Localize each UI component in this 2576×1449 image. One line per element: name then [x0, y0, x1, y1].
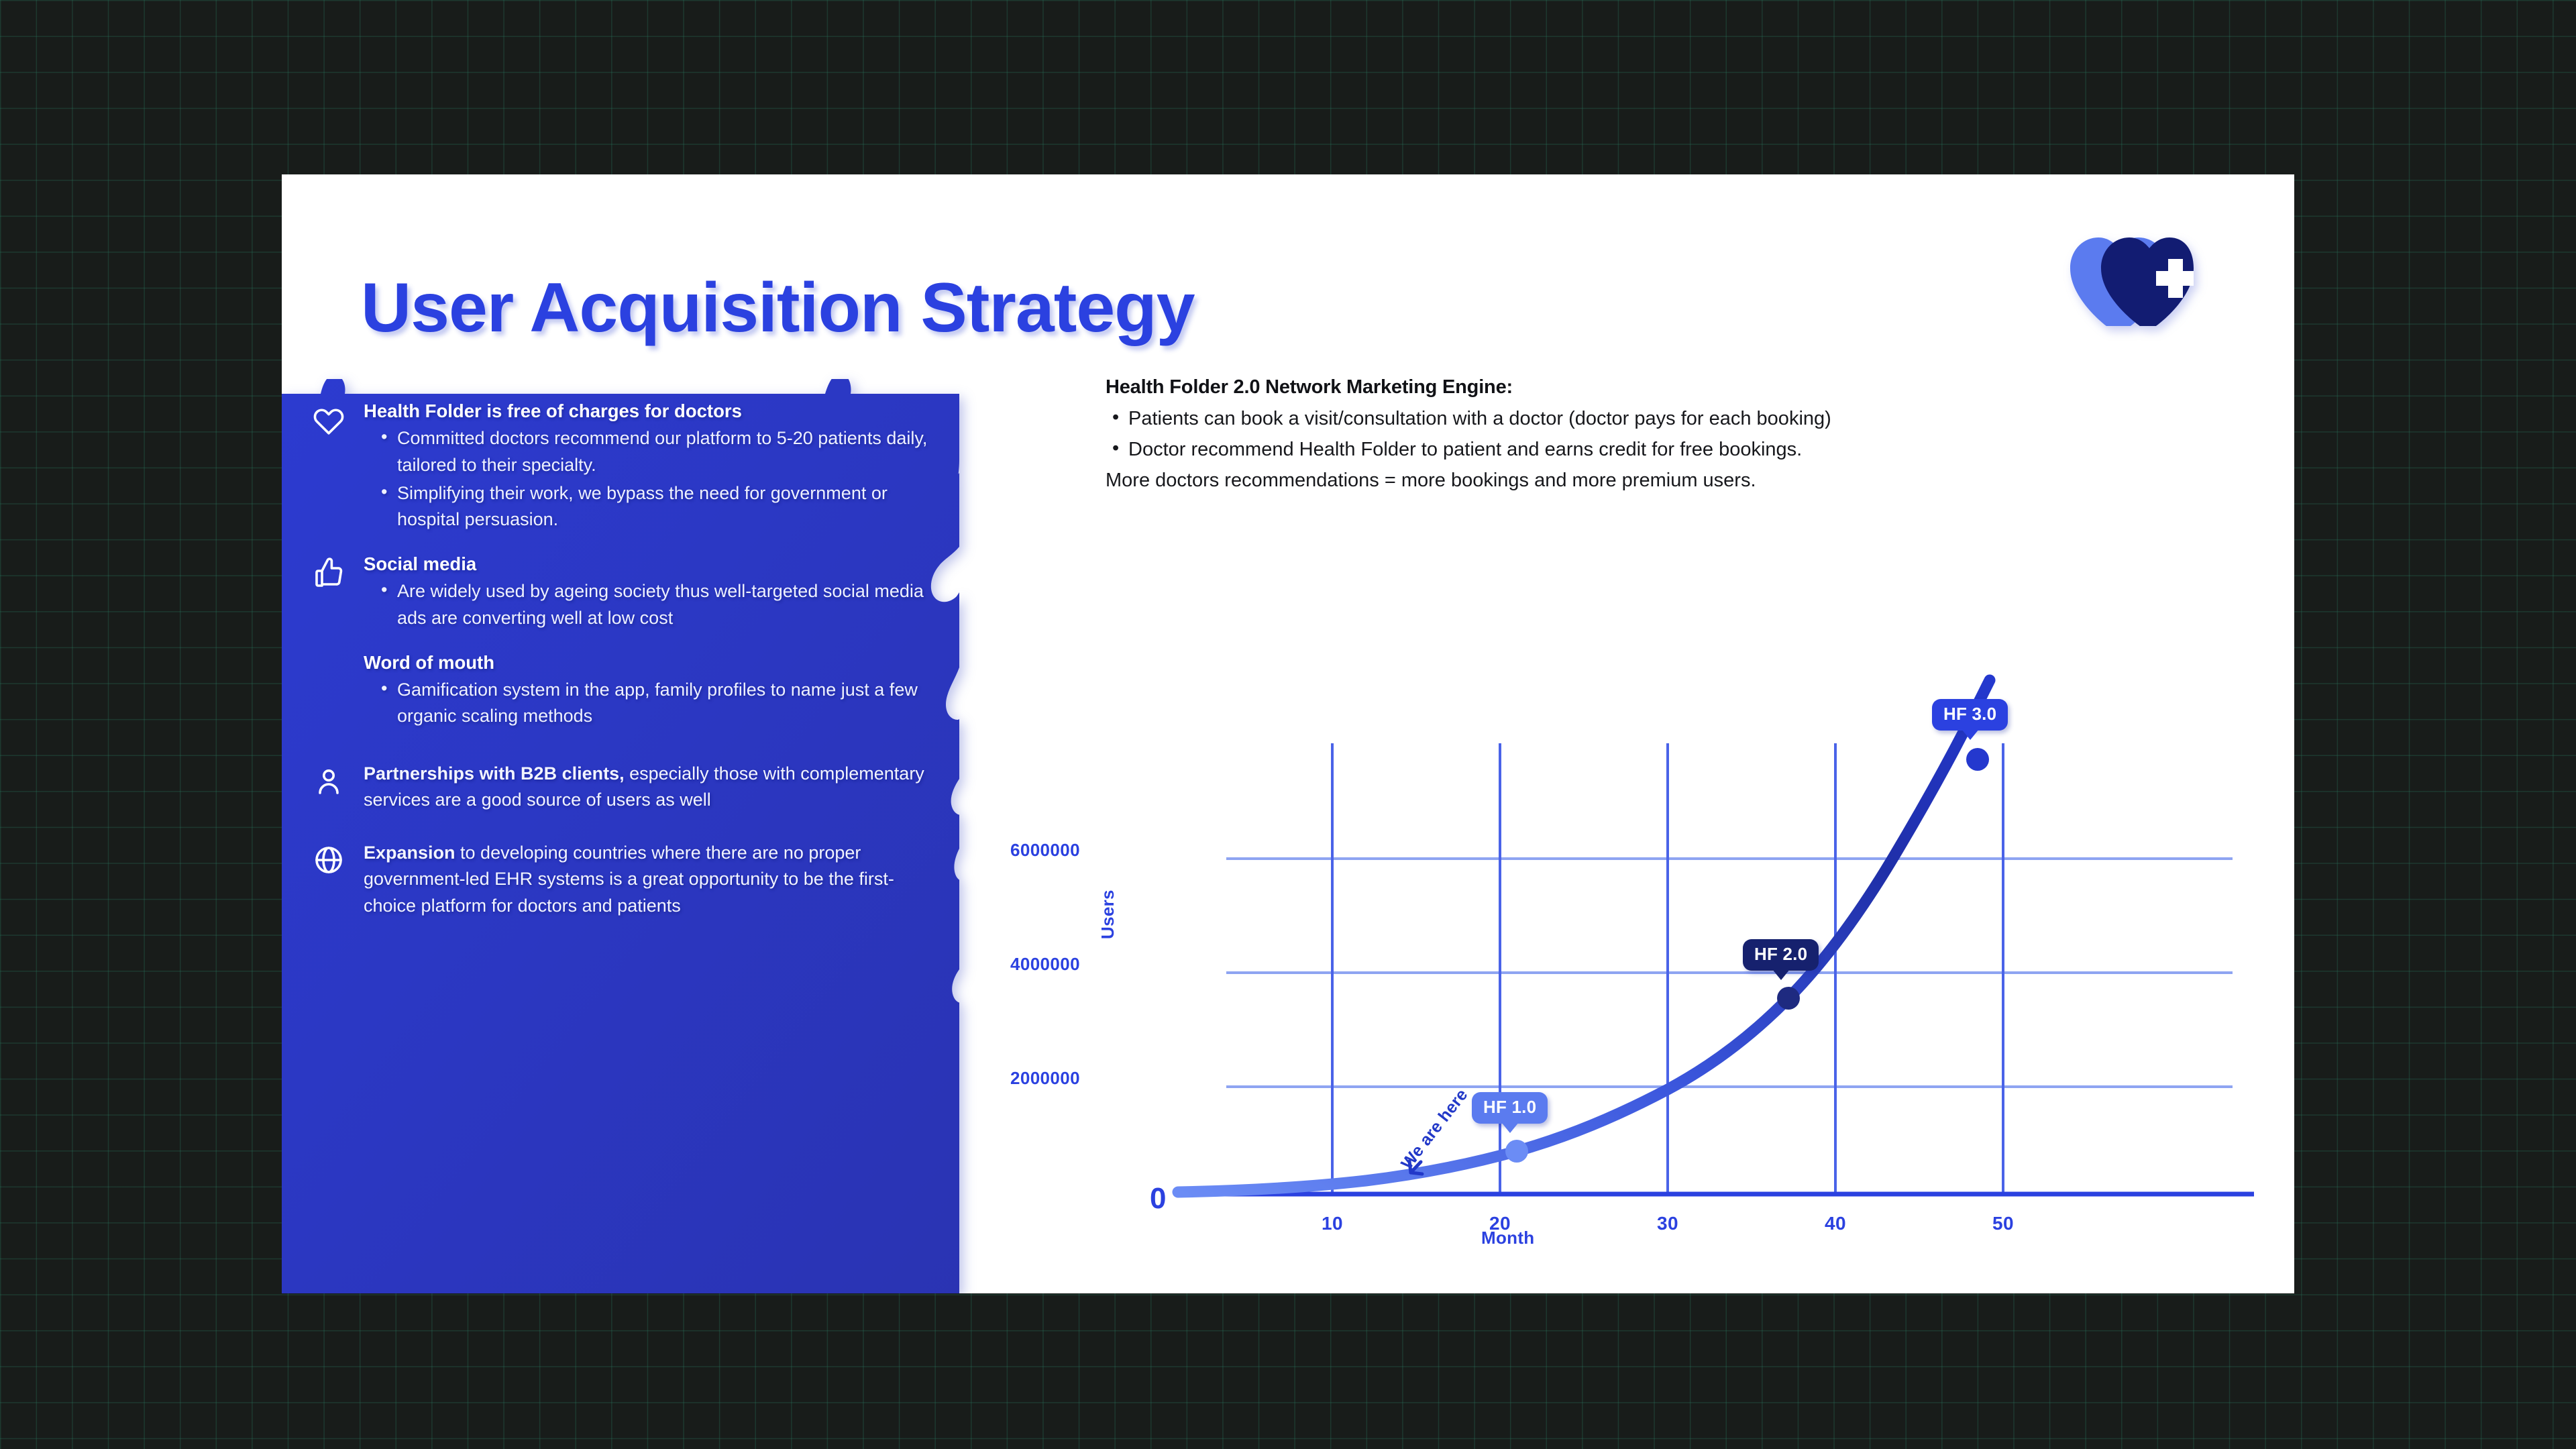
- data-point-hf1: [1505, 1140, 1528, 1163]
- x-tick-10: 10: [1305, 1213, 1359, 1234]
- heart-outline-icon: [313, 399, 349, 535]
- section-tail-text: More doctors recommendations = more book…: [1106, 466, 1978, 495]
- sidebar-bullet-list: Are widely used by ageing society thus w…: [377, 578, 928, 631]
- x-tick-50: 50: [1976, 1213, 2030, 1234]
- chart-svg: [1106, 684, 2259, 1268]
- y-tick-4000000: 4000000: [932, 954, 1080, 975]
- list-item: Committed doctors recommend our platform…: [377, 425, 928, 478]
- list-item: Simplifying their work, we bypass the ne…: [377, 480, 928, 533]
- sidebar-panel: Health Folder is free of charges for doc…: [282, 379, 959, 1293]
- sidebar-heading-bold: Partnerships with B2B clients,: [364, 763, 625, 784]
- marketing-engine-section: Health Folder 2.0 Network Marketing Engi…: [1106, 374, 1978, 495]
- data-point-hf3: [1966, 748, 1989, 771]
- sidebar-paragraph: Expansion to developing countries where …: [364, 840, 928, 918]
- sidebar-heading: Social media: [364, 552, 928, 576]
- x-tick-40: 40: [1809, 1213, 1862, 1234]
- list-item: Patients can book a visit/consultation w…: [1106, 405, 1978, 433]
- user-icon: [313, 761, 349, 813]
- no-icon-spacer: [313, 651, 349, 732]
- sidebar-block-free-of-charges: Health Folder is free of charges for doc…: [313, 399, 928, 535]
- sidebar-block-word-of-mouth: Word of mouth Gamification system in the…: [313, 651, 928, 732]
- tooltip-hf-2[interactable]: HF 2.0: [1743, 939, 1819, 971]
- y-axis-label: Users: [1097, 890, 1118, 939]
- users-growth-chart: Users Month 6000000 4000000 2000000 0 10…: [1106, 684, 2259, 1268]
- sidebar-block-partnerships: Partnerships with B2B clients, especiall…: [313, 761, 928, 813]
- section-heading: Health Folder 2.0 Network Marketing Engi…: [1106, 374, 1978, 400]
- sidebar-block-expansion: Expansion to developing countries where …: [313, 840, 928, 918]
- y-tick-2000000: 2000000: [932, 1068, 1080, 1089]
- list-item: Doctor recommend Health Folder to patien…: [1106, 435, 1978, 464]
- list-item: Are widely used by ageing society thus w…: [377, 578, 928, 631]
- globe-icon: [313, 840, 349, 918]
- tooltip-hf-3[interactable]: HF 3.0: [1932, 699, 2008, 731]
- sidebar-paragraph: Partnerships with B2B clients, especiall…: [364, 761, 928, 813]
- sidebar-heading: Word of mouth: [364, 651, 928, 674]
- thumbs-up-icon: [313, 552, 349, 633]
- growth-curve: [1178, 680, 1990, 1192]
- x-tick-30: 30: [1641, 1213, 1695, 1234]
- sidebar-content: Health Folder is free of charges for doc…: [282, 379, 959, 1293]
- tooltip-hf-1[interactable]: HF 1.0: [1472, 1092, 1548, 1124]
- sidebar-bullet-list: Gamification system in the app, family p…: [377, 677, 928, 730]
- page-title: User Acquisition Strategy: [361, 268, 1195, 348]
- x-tick-20: 20: [1473, 1213, 1527, 1234]
- x-tick-0: 0: [1150, 1182, 1166, 1216]
- sidebar-block-social-media: Social media Are widely used by ageing s…: [313, 552, 928, 633]
- sidebar-bullet-list: Committed doctors recommend our platform…: [377, 425, 928, 533]
- data-point-hf2: [1777, 987, 1800, 1010]
- y-tick-6000000: 6000000: [932, 840, 1080, 861]
- sidebar-heading-bold: Expansion: [364, 843, 455, 863]
- double-heart-medical-cross-icon: [2066, 227, 2194, 327]
- list-item: Gamification system in the app, family p…: [377, 677, 928, 730]
- marketing-bullet-list: Patients can book a visit/consultation w…: [1106, 405, 1978, 464]
- sidebar-heading: Health Folder is free of charges for doc…: [364, 399, 928, 423]
- presentation-slide: User Acquisition Strategy: [282, 174, 2294, 1293]
